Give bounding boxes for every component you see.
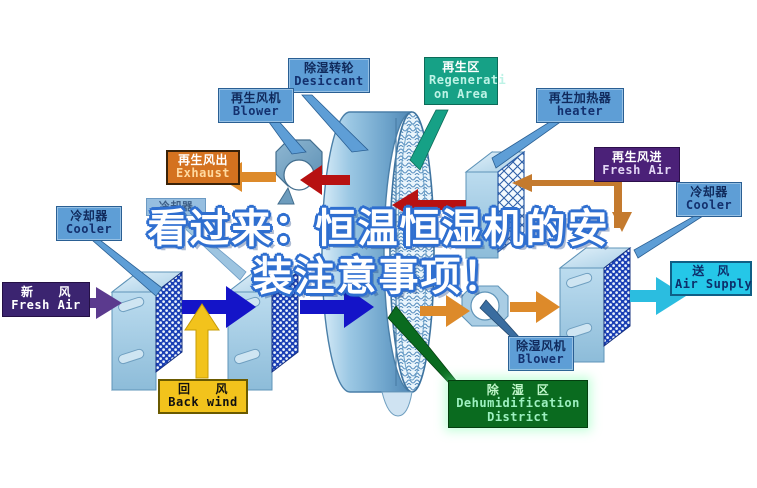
label-exhaust-cn: 再生风出 — [172, 154, 234, 167]
label-cooler-right-cn: 冷却器 — [681, 186, 737, 199]
leader-heater — [492, 118, 566, 168]
leader-dehum-blower — [480, 300, 520, 338]
diagram-canvas: XT — [0, 0, 757, 488]
label-back-wind-cn: 回 风 — [164, 383, 242, 396]
label-regeneration-area[interactable]: 再生区 Regenerati on Area — [424, 57, 498, 105]
label-desiccant[interactable]: 除湿转轮 Desiccant — [288, 58, 370, 93]
leader-dehum-district — [388, 306, 462, 388]
label-dehumidification-blower[interactable]: 除湿风机 Blower — [508, 336, 574, 371]
label-regeneration-fresh-air[interactable]: 再生风进 Fresh Air — [594, 147, 680, 182]
label-back-wind[interactable]: 回 风 Back wind — [158, 379, 248, 414]
label-regen-fresh-en: Fresh Air — [599, 164, 675, 177]
label-regen-area-en2: on Area — [429, 88, 493, 101]
label-fresh-air-en: Fresh Air — [7, 299, 85, 312]
label-regeneration-heater[interactable]: 再生加热器 heater — [536, 88, 624, 123]
label-regen-blower-cn: 再生风机 — [223, 92, 289, 105]
label-exhaust[interactable]: 再生风出 Exhaust — [166, 150, 240, 185]
overlay-title-line1: 看过来：恒温恒湿机的安 — [0, 205, 757, 253]
overlay-title-line2: 装注意事项！ — [0, 253, 757, 301]
label-dehum-blower-cn: 除湿风机 — [513, 340, 569, 353]
label-heater-en: heater — [541, 105, 619, 118]
label-exhaust-en: Exhaust — [172, 167, 234, 180]
label-desiccant-cn: 除湿转轮 — [293, 62, 365, 75]
leader-regen-area — [410, 110, 448, 170]
overlay-title: 看过来：恒温恒湿机的安 装注意事项！ — [0, 205, 757, 301]
label-dehum-district-cn: 除 湿 区 — [453, 384, 583, 397]
label-dehum-blower-en: Blower — [513, 353, 569, 366]
label-dehumidification-district[interactable]: 除 湿 区 Dehumidification District — [448, 380, 588, 428]
leader-desiccant — [302, 95, 368, 152]
label-dehum-district-en2: District — [453, 411, 583, 424]
label-regen-area-cn: 再生区 — [429, 61, 493, 74]
label-regen-blower-en: Blower — [223, 105, 289, 118]
label-desiccant-en: Desiccant — [293, 75, 365, 88]
leader-regen-blower — [266, 118, 306, 154]
label-dehum-district-en: Dehumidification — [453, 397, 583, 410]
label-regeneration-blower[interactable]: 再生风机 Blower — [218, 88, 294, 123]
label-heater-cn: 再生加热器 — [541, 92, 619, 105]
label-regen-fresh-cn: 再生风进 — [599, 151, 675, 164]
label-back-wind-en: Back wind — [164, 396, 242, 409]
label-regen-area-en: Regenerati — [429, 74, 493, 87]
